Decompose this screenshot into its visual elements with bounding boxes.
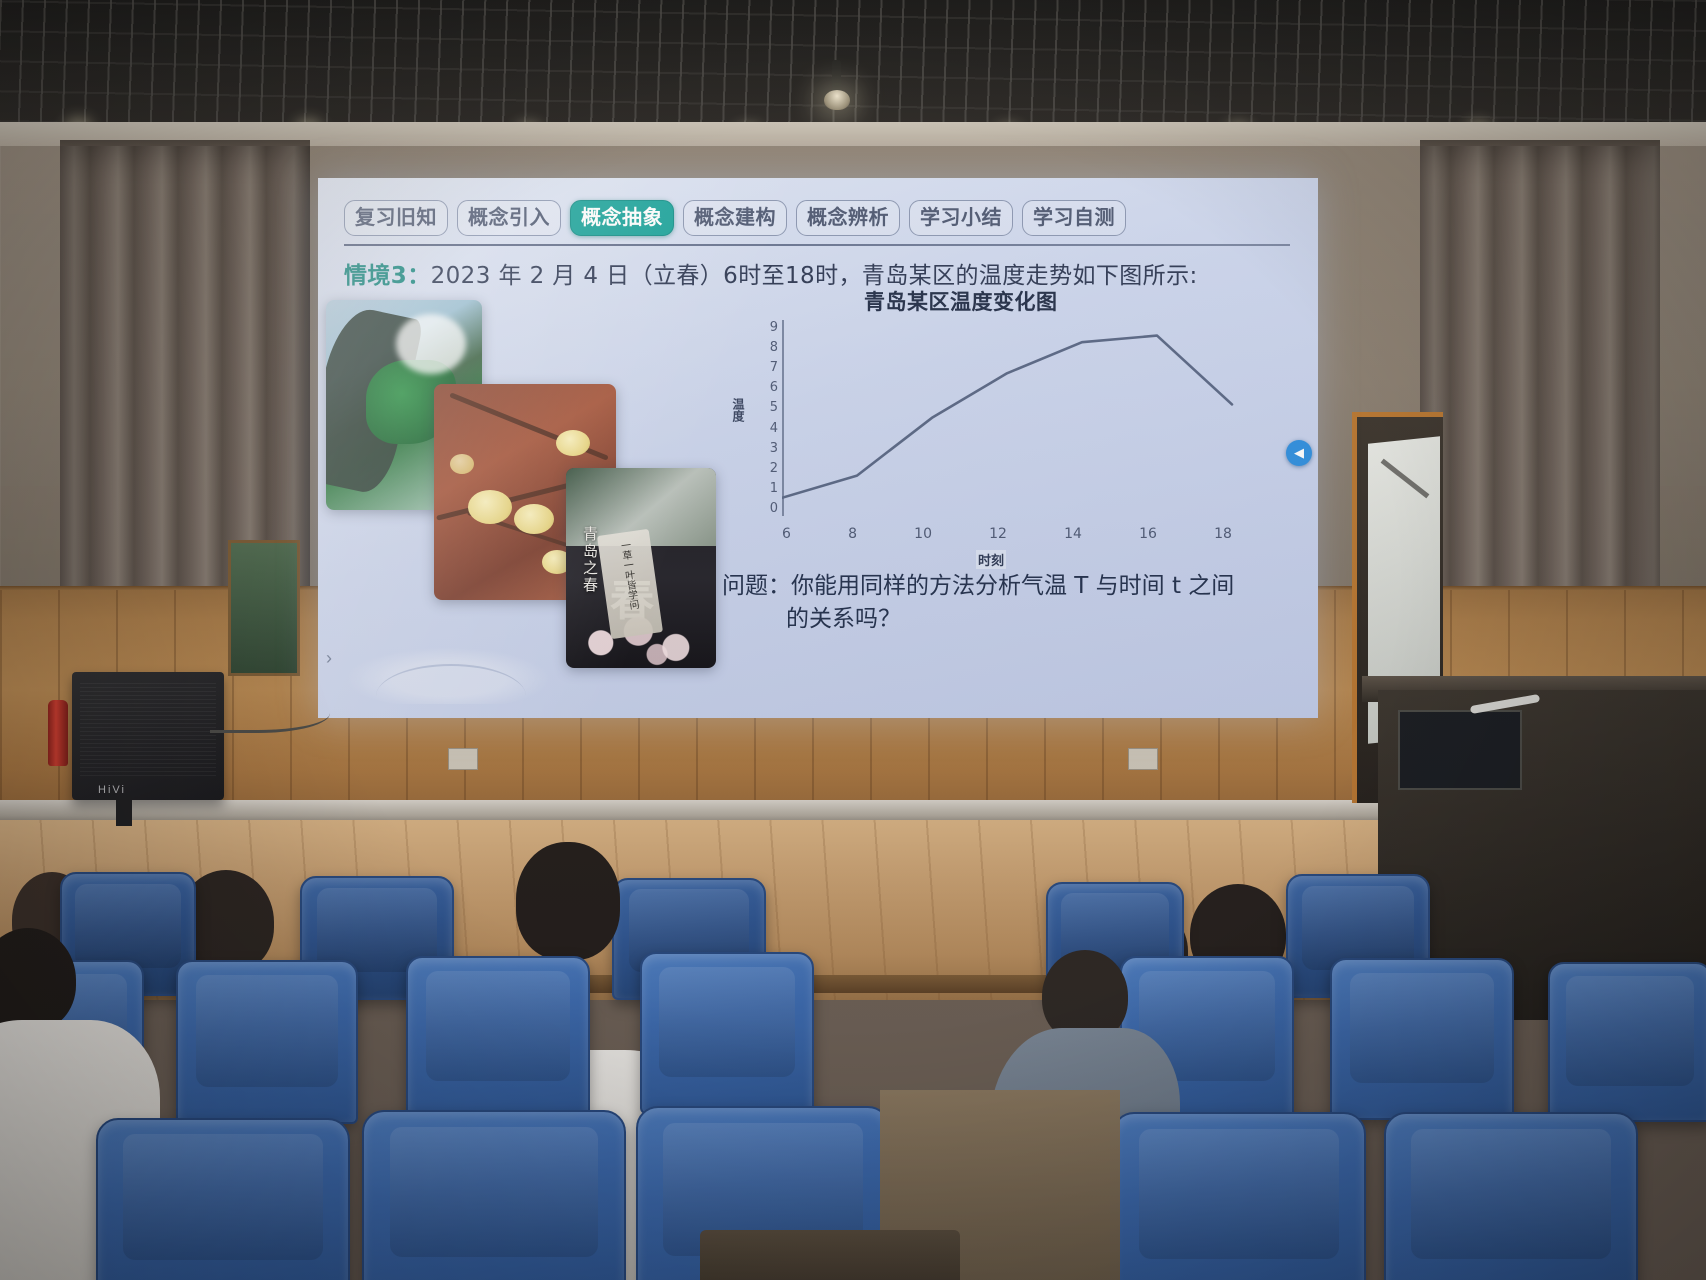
slide-tab-bar: 复习旧知 概念引入 概念抽象 概念建构 概念辨析 学习小结 学习自测 <box>344 200 1294 236</box>
xtick-18: 18 <box>1214 526 1232 542</box>
ytick-9: 9 <box>770 320 778 335</box>
tab-xuexi-xiaojie[interactable]: 学习小结 <box>909 200 1013 236</box>
tab-xuexi-zice[interactable]: 学习自测 <box>1022 200 1126 236</box>
chart-line-series <box>782 314 1252 529</box>
slide-question: 问题：你能用同样的方法分析气温 T 与时间 t 之间 的关系吗？ <box>722 570 1302 637</box>
xtick-8: 8 <box>848 526 857 542</box>
seat-b6[interactable] <box>1330 958 1514 1120</box>
xtick-10: 10 <box>914 526 932 542</box>
poster-strip-text: 一草一叶皆学问 <box>616 539 641 610</box>
xtick-12: 12 <box>989 526 1007 542</box>
jasmine-bloom-2 <box>468 490 512 524</box>
open-book-watermark <box>348 648 548 704</box>
seat-c5[interactable] <box>1384 1112 1638 1280</box>
jasmine-bloom-1 <box>556 430 590 456</box>
seat-c2[interactable] <box>362 1110 626 1280</box>
xtick-14: 14 <box>1064 526 1082 542</box>
chart-xlabel: 时刻 <box>976 550 1006 569</box>
situation-text: 2023 年 2 月 4 日（立春）6时至18时，青岛某区的温度走势如下图所示: <box>431 263 1198 289</box>
chart-title: 青岛某区温度变化图 <box>864 286 1058 316</box>
wall-socket-right <box>1128 748 1158 770</box>
wall-socket-left <box>448 748 478 770</box>
tab-gainian-yinru[interactable]: 概念引入 <box>457 200 561 236</box>
projection-screen: 复习旧知 概念引入 概念抽象 概念建构 概念辨析 学习小结 学习自测 情境3：2… <box>318 178 1318 718</box>
slide-surface: 复习旧知 概念引入 概念抽象 概念建构 概念辨析 学习小结 学习自测 情境3：2… <box>318 178 1318 718</box>
ytick-7: 7 <box>770 360 778 375</box>
xtick-16: 16 <box>1139 526 1157 542</box>
desk-edge <box>700 1230 960 1280</box>
prev-slide-icon[interactable]: › <box>326 648 332 669</box>
tab-gainian-jiangou[interactable]: 概念建构 <box>683 200 787 236</box>
question-line-2: 的关系吗？ <box>722 603 1302 636</box>
next-slide-icon[interactable]: ◀ <box>1286 440 1312 466</box>
chart-ylabel: 温度 <box>730 398 747 422</box>
speaker-grill <box>80 680 216 776</box>
ytick-8: 8 <box>770 340 778 355</box>
seat-b4[interactable] <box>640 952 814 1114</box>
speaker-brand-label: HiVi <box>98 784 126 796</box>
ytick-1: 1 <box>770 481 778 496</box>
podium-monitor <box>1398 710 1522 790</box>
ytick-6: 6 <box>770 380 778 395</box>
chart-x-ticks: 6 8 10 12 14 16 18 <box>782 526 1232 542</box>
auditorium-scene: 复习旧知 概念引入 概念抽象 概念建构 概念辨析 学习小结 学习自测 情境3：2… <box>0 0 1706 1280</box>
jasmine-bloom-3 <box>514 504 554 534</box>
speaker-stand <box>116 800 132 826</box>
seat-b3[interactable] <box>406 956 590 1118</box>
ytick-3: 3 <box>770 441 778 456</box>
side-table <box>228 540 300 676</box>
projector-mount <box>832 60 841 94</box>
ytick-0: 0 <box>770 501 778 516</box>
seat-b7[interactable] <box>1548 962 1706 1122</box>
jasmine-bloom-5 <box>450 454 474 474</box>
seat-c4[interactable] <box>1112 1112 1366 1280</box>
fire-extinguisher <box>48 700 68 766</box>
audience-area <box>0 900 1706 1280</box>
ytick-5: 5 <box>770 400 778 415</box>
temperature-chart: 青岛某区温度变化图 温度 9 8 7 6 5 4 3 2 1 0 <box>718 288 1258 588</box>
slide-heading: 情境3：2023 年 2 月 4 日（立春）6时至18时，青岛某区的温度走势如下… <box>344 256 1304 290</box>
ginkgo-highlight <box>396 314 466 374</box>
question-line-1: 问题：你能用同样的方法分析气温 T 与时间 t 之间 <box>722 573 1234 599</box>
tab-gainian-bianxi[interactable]: 概念辨析 <box>796 200 900 236</box>
ytick-2: 2 <box>770 461 778 476</box>
tab-fuxi-jiuzhi[interactable]: 复习旧知 <box>344 200 448 236</box>
ceiling-spotlight-center <box>824 90 850 110</box>
tab-gainian-chouxiang[interactable]: 概念抽象 <box>570 200 674 236</box>
situation-tag: 情境3： <box>344 263 431 289</box>
header-divider <box>344 244 1290 246</box>
chart-y-ticks: 9 8 7 6 5 4 3 2 1 0 <box>758 320 778 516</box>
ytick-4: 4 <box>770 421 778 436</box>
seat-c1[interactable] <box>96 1118 350 1280</box>
pa-speaker-box: HiVi <box>72 672 224 800</box>
seat-b2[interactable] <box>176 960 358 1124</box>
xtick-6: 6 <box>782 526 791 542</box>
